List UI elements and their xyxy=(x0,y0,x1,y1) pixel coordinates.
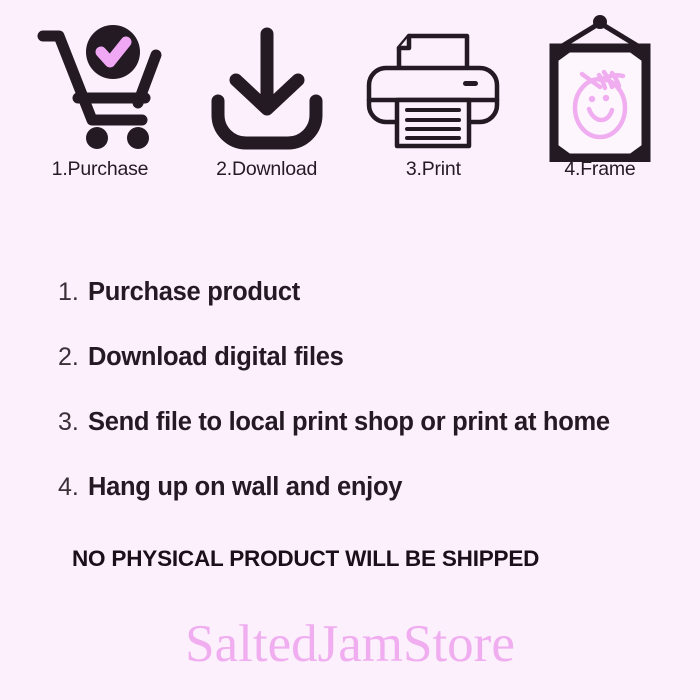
list-item-number: 1. xyxy=(58,278,88,307)
step-download: 2.Download xyxy=(191,18,343,180)
list-item-text: Download digital files xyxy=(88,343,344,372)
list-item-text: Send file to local print shop or print a… xyxy=(88,408,610,437)
printer-icon xyxy=(363,18,503,158)
printable-instructions-graphic: 1.Purchase 2.Download xyxy=(0,0,700,700)
list-item-number: 3. xyxy=(58,408,88,437)
steps-row: 1.Purchase 2.Download xyxy=(0,18,700,198)
disclaimer-text: NO PHYSICAL PRODUCT WILL BE SHIPPED xyxy=(72,546,539,572)
list-item: 1. Purchase product xyxy=(58,278,678,343)
list-item-number: 4. xyxy=(58,473,88,502)
step-print: 3.Print xyxy=(357,18,509,180)
brand-wordmark: SaltedJamStore xyxy=(0,618,700,671)
step-purchase: 1.Purchase xyxy=(24,18,176,180)
list-item-text: Hang up on wall and enjoy xyxy=(88,473,402,502)
step-caption: 3.Print xyxy=(406,160,461,180)
step-caption: 2.Download xyxy=(216,160,317,180)
step-frame: 4.Frame xyxy=(524,18,676,180)
list-item: 2. Download digital files xyxy=(58,343,678,408)
list-item: 4. Hang up on wall and enjoy xyxy=(58,473,678,538)
list-item-number: 2. xyxy=(58,343,88,372)
shopping-cart-check-icon xyxy=(34,18,166,158)
step-caption: 4.Frame xyxy=(564,160,635,180)
step-caption: 1.Purchase xyxy=(52,160,149,180)
hanging-picture-frame-icon xyxy=(542,18,658,158)
list-item-text: Purchase product xyxy=(88,278,300,307)
list-item: 3. Send file to local print shop or prin… xyxy=(58,408,678,473)
download-tray-icon xyxy=(208,18,326,158)
instruction-list: 1. Purchase product 2. Download digital … xyxy=(58,278,678,538)
